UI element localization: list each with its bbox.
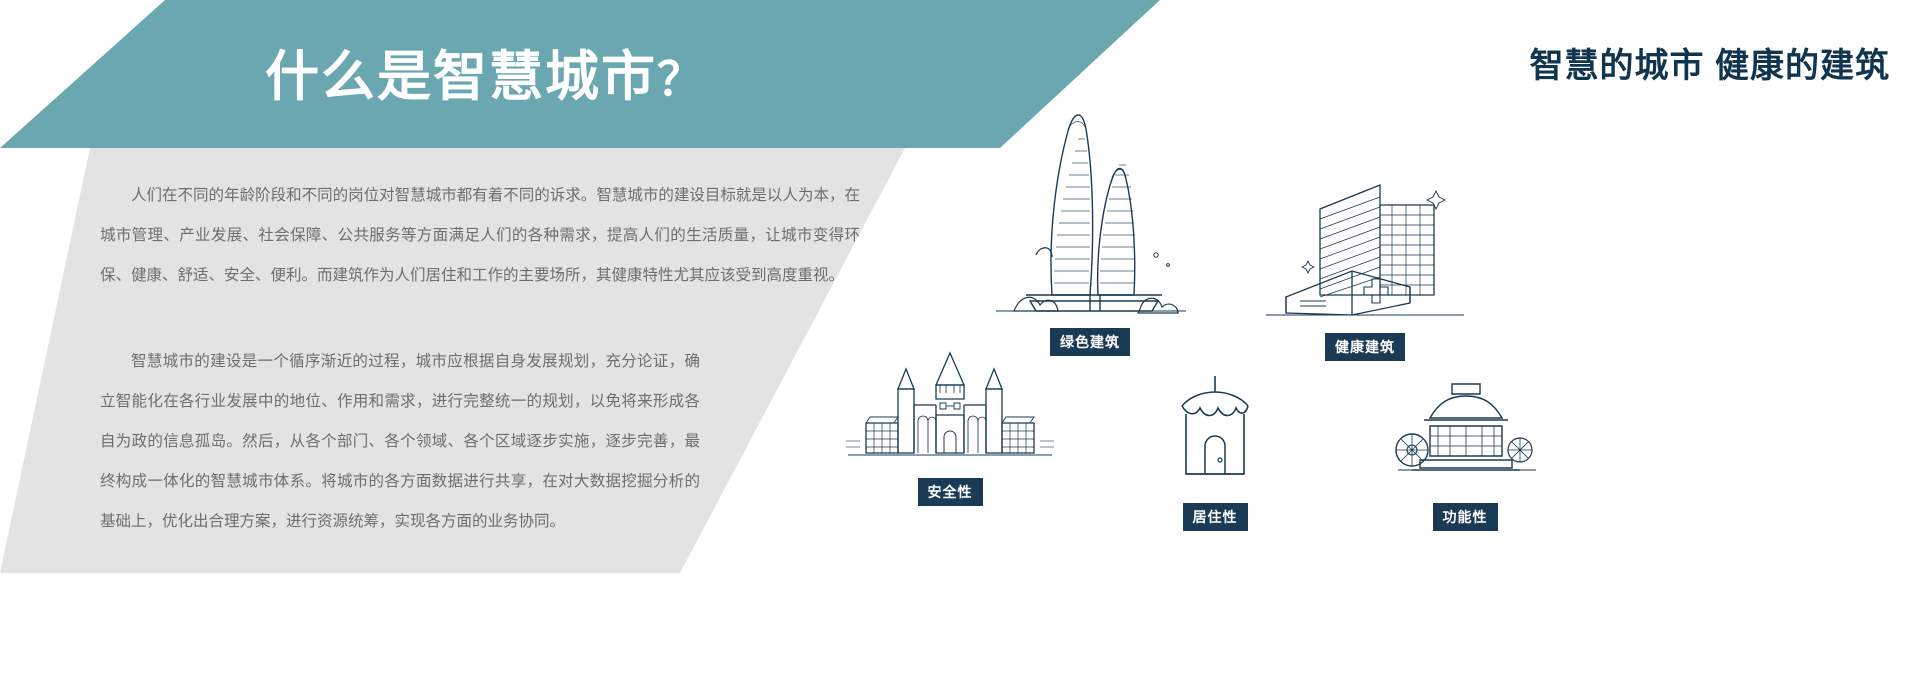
label-safety: 安全性 (918, 478, 983, 506)
illustration-livability: 居住性 (1160, 370, 1270, 531)
label-health-building: 健康建筑 (1325, 333, 1405, 361)
page-title-text: 什么是智慧城市 (265, 47, 657, 107)
section-heading: 智慧的城市 健康的建筑 (1530, 38, 1890, 87)
illustration-functionality: 功能性 (1390, 370, 1540, 531)
body-text: 人们在不同的年龄阶段和不同的岗位对智慧城市都有着不同的诉求。智慧城市的建设目标就… (100, 176, 860, 542)
illustration-group: 绿色建筑 健康建筑 (830, 95, 1920, 615)
twin-towers-icon (990, 105, 1190, 320)
page-title-question-mark: ？ (657, 53, 705, 105)
paragraph-1: 人们在不同的年龄阶段和不同的岗位对智慧城市都有着不同的诉求。智慧城市的建设目标就… (100, 176, 860, 296)
paragraph-2: 智慧城市的建设是一个循序渐近的过程，城市应根据自身发展规划，充分论证，确立智能化… (100, 342, 700, 542)
illustration-health-building: 健康建筑 (1260, 175, 1470, 361)
page-title: 什么是智慧城市？ (265, 32, 705, 111)
label-green-building: 绿色建筑 (1050, 328, 1130, 356)
illustration-green-building: 绿色建筑 (990, 105, 1190, 356)
castle-icon (840, 345, 1060, 470)
illustration-safety: 安全性 (840, 345, 1060, 506)
label-functionality: 功能性 (1433, 503, 1498, 531)
house-icon (1160, 370, 1270, 495)
label-livability: 居住性 (1183, 503, 1248, 531)
pavilion-icon (1390, 370, 1540, 495)
hospital-building-icon (1260, 175, 1470, 325)
